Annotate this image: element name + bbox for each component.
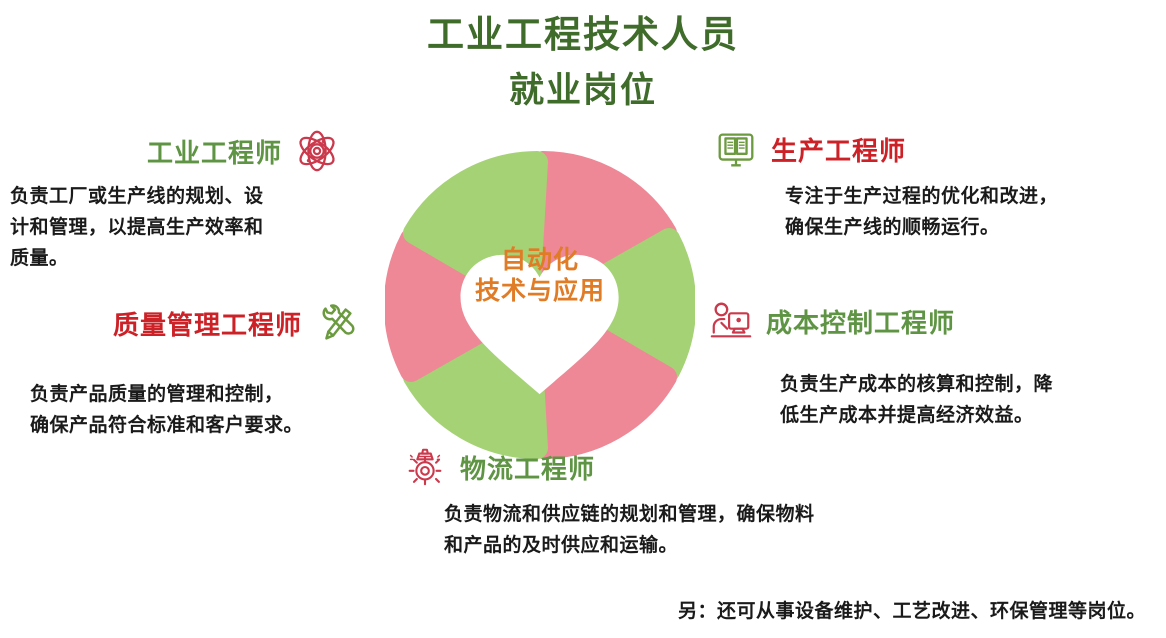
person-at-computer-icon	[708, 298, 754, 344]
footer-note: 另：还可从事设备维护、工艺改进、环保管理等岗位。	[0, 596, 1146, 623]
monitor-book-icon	[713, 126, 759, 172]
section-industrial-description: 负责工厂或生产线的规划、设 计和管理，以提高生产效率和 质量。	[10, 182, 340, 274]
page-title: 工业工程技术人员 就业岗位	[0, 12, 1166, 114]
petal-wheel-diagram	[385, 150, 695, 460]
desc-line: 专注于生产过程的优化和改进，	[785, 182, 1143, 213]
section-industrial-engineer: 工业工程师 负责工厂或生产线的规划、设 计和管理，以提高生产效率和 质量。	[10, 128, 340, 274]
section-logistics-description: 负责物流和供应链的规划和管理，确保物料 和产品的及时供应和运输。	[444, 500, 1042, 562]
section-logistics-engineer: 物流工程师 负责物流和供应链的规划和管理，确保物料 和产品的及时供应和运输。	[402, 444, 1042, 562]
section-production-header: 生产工程师	[713, 126, 1143, 172]
desc-line: 确保生产线的顺畅运行。	[785, 213, 1143, 244]
section-cost-control-engineer: 成本控制工程师 负责生产成本的核算和控制，降 低生产成本并提高经济效益。	[708, 298, 1148, 432]
page-title-line1: 工业工程技术人员	[0, 12, 1166, 58]
desc-line: 负责工厂或生产线的规划、设	[10, 182, 340, 213]
desc-line: 负责生产成本的核算和控制，降	[780, 370, 1148, 401]
section-logistics-header: 物流工程师	[402, 444, 1042, 490]
desc-line: 负责物流和供应链的规划和管理，确保物料	[444, 500, 1042, 531]
desc-line: 和产品的及时供应和运输。	[444, 531, 1042, 562]
section-cost-header: 成本控制工程师	[708, 298, 1148, 344]
section-production-engineer: 生产工程师 专注于生产过程的优化和改进， 确保生产线的顺畅运行。	[713, 126, 1143, 244]
section-cost-description: 负责生产成本的核算和控制，降 低生产成本并提高经济效益。	[780, 370, 1148, 432]
section-industrial-title: 工业工程师	[147, 133, 282, 170]
section-cost-title: 成本控制工程师	[766, 303, 955, 340]
wrench-screwdriver-icon	[314, 300, 360, 346]
section-industrial-header: 工业工程师	[10, 128, 340, 174]
section-quality-header: 质量管理工程师	[90, 300, 360, 346]
desc-line: 确保产品符合标准和客户要求。	[30, 411, 360, 442]
desc-line: 负责产品质量的管理和控制，	[30, 380, 360, 411]
page-title-line2: 就业岗位	[0, 68, 1166, 114]
gear-cargo-icon	[402, 444, 448, 490]
desc-line: 低生产成本并提高经济效益。	[780, 401, 1148, 432]
atom-icon	[294, 128, 340, 174]
section-quality-engineer: 质量管理工程师 负责产品质量的管理和控制， 确保产品符合标准和客户要求。	[90, 300, 360, 442]
infographic-canvas: 工业工程技术人员 就业岗位	[0, 0, 1166, 638]
section-production-description: 专注于生产过程的优化和改进， 确保生产线的顺畅运行。	[785, 182, 1143, 244]
desc-line: 质量。	[10, 244, 340, 275]
section-quality-title: 质量管理工程师	[113, 305, 302, 342]
section-production-title: 生产工程师	[771, 131, 906, 168]
section-logistics-title: 物流工程师	[460, 449, 595, 486]
section-quality-description: 负责产品质量的管理和控制， 确保产品符合标准和客户要求。	[30, 380, 360, 442]
desc-line: 计和管理，以提高生产效率和	[10, 213, 340, 244]
petal-group	[395, 162, 685, 448]
